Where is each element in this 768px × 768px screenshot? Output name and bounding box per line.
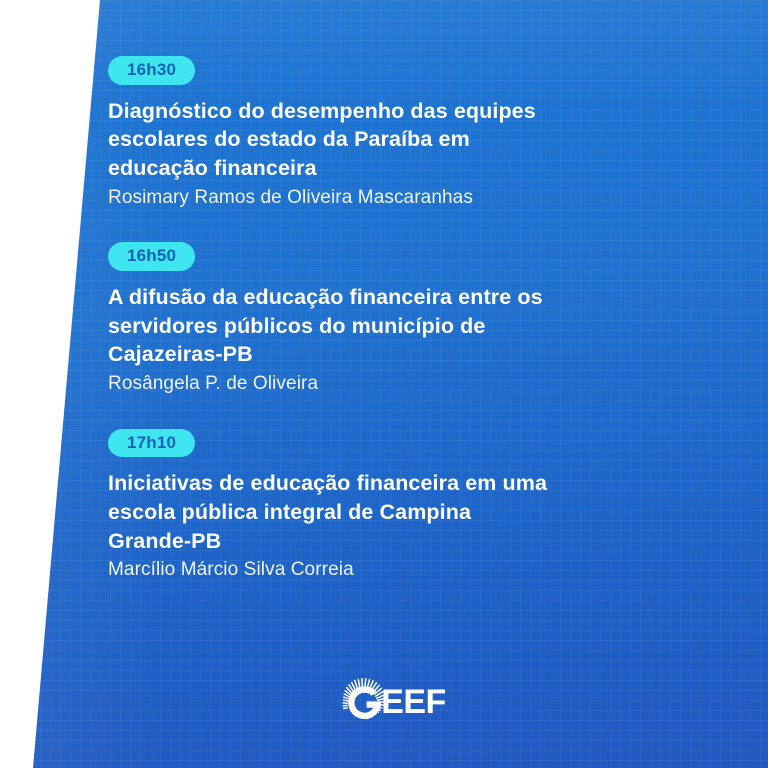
- session-speaker: Rosângela P. de Oliveira: [108, 371, 668, 397]
- logo-lockup: EEF: [334, 676, 446, 728]
- list-item: 17h10 Iniciativas de educação financeira…: [108, 429, 668, 583]
- session-time-badge: 16h50: [108, 242, 195, 271]
- session-title: Iniciativas de educação financeira em um…: [108, 469, 548, 555]
- session-time-badge: 17h10: [108, 429, 195, 458]
- list-item: 16h50 A difusão da educação financeira e…: [108, 242, 668, 396]
- session-speaker: Rosimary Ramos de Oliveira Mascaranhas: [108, 185, 668, 211]
- session-time-badge: 16h30: [108, 56, 195, 85]
- footer-logo: EEF: [0, 676, 768, 728]
- session-speaker: Marcílio Márcio Silva Correia: [108, 557, 668, 583]
- session-title: A difusão da educação financeira entre o…: [108, 283, 548, 369]
- logo-wordmark: EEF: [381, 685, 446, 720]
- session-list: 16h30 Diagnóstico do desempenho das equi…: [108, 56, 668, 583]
- poster-canvas: 16h30 Diagnóstico do desempenho das equi…: [0, 0, 768, 768]
- list-item: 16h30 Diagnóstico do desempenho das equi…: [108, 56, 668, 210]
- session-title: Diagnóstico do desempenho das equipes es…: [108, 97, 548, 183]
